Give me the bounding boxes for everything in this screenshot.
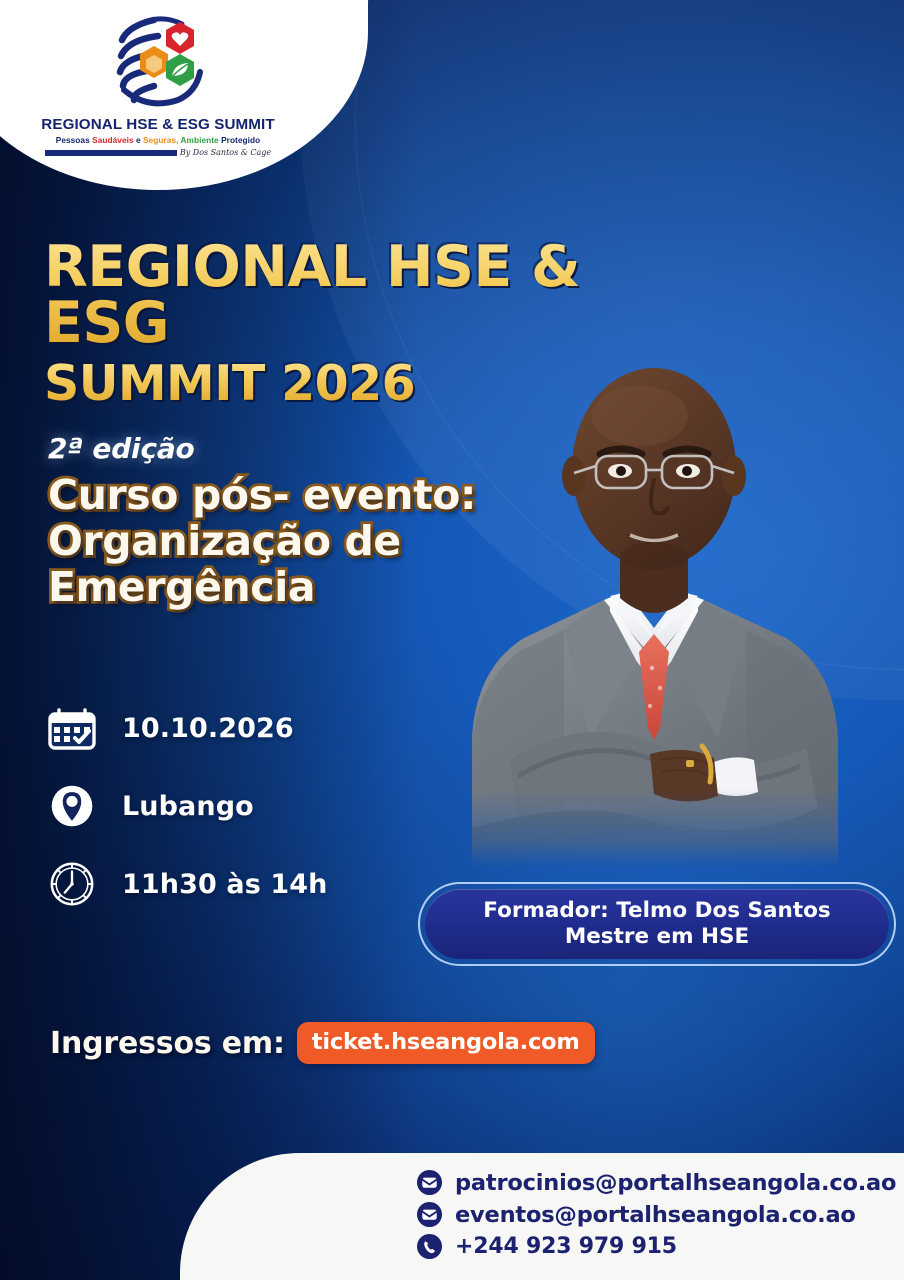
- background-vignette-decoration: [0, 0, 420, 1280]
- email-icon: [416, 1169, 443, 1196]
- contact-row-phone[interactable]: +244 923 979 915: [416, 1233, 896, 1260]
- main-title-line-1: REGIONAL HSE & ESG: [44, 240, 684, 352]
- event-location: Lubango: [122, 791, 254, 822]
- contact-list: patrocinios@portalhseangola.co.ao evento…: [416, 1169, 896, 1260]
- events-email: eventos@portalhseangola.co.ao: [455, 1202, 856, 1228]
- tickets-section: Ingressos em: ticket.hseangola.com: [50, 1022, 595, 1064]
- phone-icon: [416, 1233, 443, 1260]
- logo-divider: [45, 150, 177, 156]
- event-date: 10.10.2026: [122, 713, 294, 744]
- event-poster: REGIONAL HSE & ESG SUMMIT Pessoas Saudáv…: [0, 0, 904, 1280]
- course-title-line-2: Organização de: [48, 519, 518, 565]
- footer-panel: patrocinios@portalhseangola.co.ao evento…: [180, 1153, 904, 1280]
- main-title-line-2: SUMMIT 2026: [44, 360, 684, 408]
- calendar-icon: [44, 700, 100, 756]
- heart-hexagon-icon: [166, 22, 194, 54]
- phone-number: +244 923 979 915: [455, 1234, 677, 1259]
- logo-signature-row: By Dos Santos & Cage: [0, 148, 316, 157]
- logo-title: REGIONAL HSE & ESG SUMMIT: [0, 116, 316, 133]
- detail-row-date: 10.10.2026: [44, 700, 327, 756]
- event-details-list: 10.10.2026 Lubango: [44, 700, 327, 912]
- contact-row-events[interactable]: eventos@portalhseangola.co.ao: [416, 1201, 896, 1228]
- speaker-credential: Mestre em HSE: [565, 924, 749, 950]
- course-title: Curso pós- evento: Organização de Emergê…: [48, 473, 518, 611]
- tickets-label: Ingressos em:: [50, 1026, 285, 1061]
- logo-tagline: Pessoas Saudáveis e Seguras, Ambiente Pr…: [0, 135, 316, 145]
- edition-label: 2ª edição: [48, 432, 518, 465]
- contact-row-sponsorship[interactable]: patrocinios@portalhseangola.co.ao: [416, 1169, 896, 1196]
- speaker-banner: Formador: Telmo Dos Santos Mestre em HSE: [418, 882, 896, 966]
- speaker-name: Formador: Telmo Dos Santos: [483, 898, 830, 924]
- email-icon: [416, 1201, 443, 1228]
- sponsorship-email: patrocinios@portalhseangola.co.ao: [455, 1170, 896, 1196]
- course-title-line-1: Curso pós- evento:: [48, 473, 518, 519]
- event-time: 11h30 às 14h: [122, 869, 327, 900]
- ticket-url-badge[interactable]: ticket.hseangola.com: [297, 1022, 595, 1064]
- leaf-hexagon-icon: [166, 54, 194, 86]
- detail-row-time: 11h30 às 14h: [44, 856, 327, 912]
- course-title-line-3: Emergência: [48, 565, 518, 611]
- globe-icon: [104, 6, 212, 114]
- course-subtitle-block: 2ª edição Curso pós- evento: Organização…: [48, 432, 518, 611]
- logo-signature: By Dos Santos & Cage: [180, 148, 271, 157]
- summit-logo-badge: REGIONAL HSE & ESG SUMMIT Pessoas Saudáv…: [0, 0, 368, 190]
- clock-icon: [44, 856, 100, 912]
- detail-row-location: Lubango: [44, 778, 327, 834]
- location-pin-icon: [44, 778, 100, 834]
- main-title: REGIONAL HSE & ESG SUMMIT 2026: [44, 240, 684, 408]
